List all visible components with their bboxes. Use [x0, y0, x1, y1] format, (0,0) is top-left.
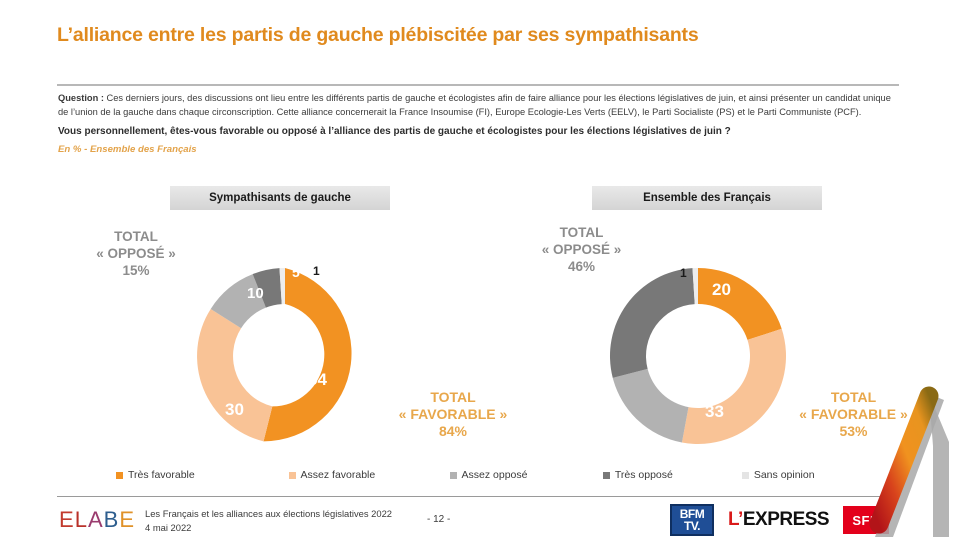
callout-total-favorable-left: TOTAL « FAVORABLE » 84% — [388, 389, 518, 440]
legend-label: Sans opinion — [754, 469, 815, 481]
legend-label: Très opposé — [615, 469, 673, 481]
divider-top — [57, 84, 899, 86]
elabe-letter-b: B — [104, 507, 120, 532]
segment-assez-oppose[interactable] — [613, 369, 689, 443]
question-bold: Vous personnellement, êtes-vous favorabl… — [58, 125, 903, 139]
elabe-letter-a: A — [88, 507, 104, 532]
question-block: Question : Ces derniers jours, des discu… — [58, 92, 903, 155]
page-title: L’alliance entre les partis de gauche pl… — [57, 24, 887, 47]
callout-line-2: « OPPOSÉ » — [519, 241, 644, 258]
segment-assez-favorable[interactable] — [682, 329, 786, 444]
lexpress-logo: L’EXPRESS — [728, 509, 829, 531]
bfm-line-2: TV. — [672, 520, 712, 532]
legend-item-tres-favorable[interactable]: Très favorable — [116, 469, 289, 481]
bfmtv-logo: BFM TV. — [670, 504, 714, 536]
callout-line-3: 15% — [76, 262, 196, 279]
legend-swatch-icon — [450, 472, 457, 479]
chart-header-left: Sympathisants de gauche — [170, 186, 390, 210]
legend-item-assez-favorable[interactable]: Assez favorable — [289, 469, 450, 481]
footer-study-date: 4 mai 2022 — [145, 521, 392, 535]
segment-tres-oppose[interactable] — [610, 268, 695, 378]
footer: ELABE Les Français et les alliances aux … — [57, 501, 902, 537]
question-unit: En % - Ensemble des Français — [58, 144, 903, 155]
callout-total-oppose-left: TOTAL « OPPOSÉ » 15% — [76, 228, 196, 279]
lexpress-text: EXPRESS — [743, 509, 829, 530]
callout-line-1: TOTAL — [388, 389, 518, 406]
chart-header-right: Ensemble des Français — [592, 186, 822, 210]
elabe-letter-l: L — [75, 507, 88, 532]
callout-line-1: TOTAL — [76, 228, 196, 245]
legend-label: Assez opposé — [462, 469, 528, 481]
question-text: Question : Ces derniers jours, des discu… — [58, 92, 903, 119]
elabe-logo: ELABE — [59, 507, 135, 533]
callout-total-oppose-right: TOTAL « OPPOSÉ » 46% — [519, 224, 644, 275]
callout-line-3: 46% — [519, 258, 644, 275]
divider-bottom — [57, 496, 899, 497]
elabe-a-watermark — [845, 372, 955, 537]
legend-item-assez-oppose[interactable]: Assez opposé — [450, 469, 603, 481]
segment-tres-favorable[interactable] — [698, 268, 782, 340]
legend-label: Très favorable — [128, 469, 195, 481]
lexpress-apostrophe: L’ — [728, 509, 743, 530]
chart-legend: Très favorable Assez favorable Assez opp… — [116, 469, 876, 481]
legend-item-tres-oppose[interactable]: Très opposé — [603, 469, 742, 481]
elabe-letter-e1: E — [59, 507, 75, 532]
callout-line-2: « FAVORABLE » — [388, 406, 518, 423]
legend-swatch-icon — [289, 472, 296, 479]
slide: L’alliance entre les partis de gauche pl… — [0, 0, 955, 537]
page-number: - 12 - — [427, 514, 450, 525]
callout-line-1: TOTAL — [519, 224, 644, 241]
watermark-a-icon — [845, 372, 955, 537]
footer-study-info: Les Français et les alliances aux électi… — [145, 507, 392, 534]
legend-label: Assez favorable — [301, 469, 376, 481]
callout-line-3: 84% — [388, 423, 518, 440]
legend-swatch-icon — [116, 472, 123, 479]
callout-line-2: « OPPOSÉ » — [76, 245, 196, 262]
legend-swatch-icon — [742, 472, 749, 479]
question-body: Ces derniers jours, des discussions ont … — [58, 93, 891, 117]
segment-assez-favorable[interactable] — [197, 309, 272, 441]
elabe-letter-e2: E — [119, 507, 135, 532]
question-label: Question : — [58, 93, 104, 103]
legend-swatch-icon — [603, 472, 610, 479]
donut-chart-left — [165, 236, 405, 476]
footer-study-title: Les Français et les alliances aux électi… — [145, 507, 392, 521]
